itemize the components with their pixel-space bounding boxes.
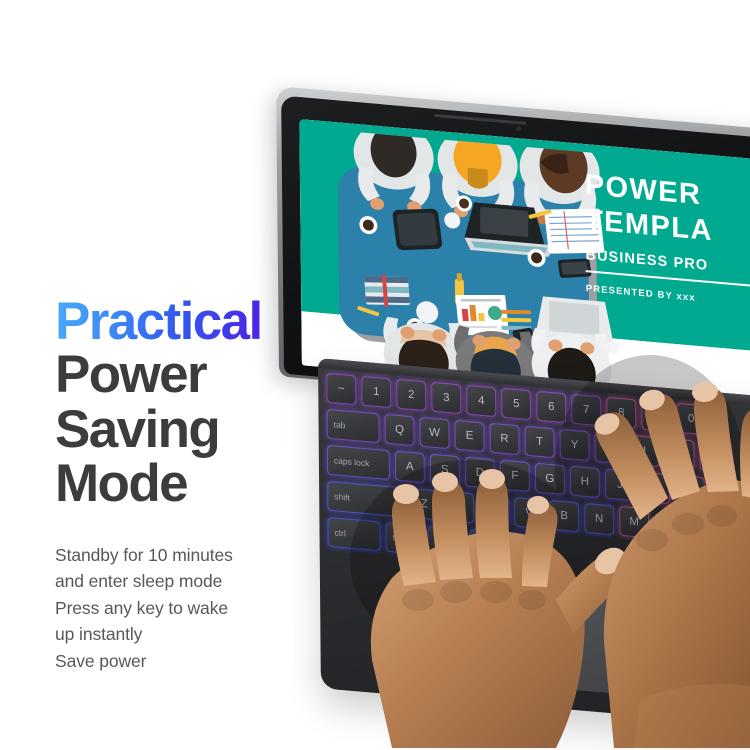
key-h[interactable]: H — [570, 466, 600, 499]
key-x[interactable]: X — [444, 491, 474, 524]
laptop-base: ~ 1 2 3 4 5 6 7 8 9 0 tab Q W E — [318, 358, 750, 732]
key-m[interactable]: M — [619, 506, 649, 539]
key-9[interactable]: 9 — [641, 400, 671, 433]
key-shift[interactable]: shift — [327, 481, 404, 518]
key-tilde[interactable]: ~ — [326, 373, 356, 406]
key-g[interactable]: G — [535, 463, 565, 496]
speaker-grille-icon — [434, 114, 526, 125]
key-0[interactable]: 0 — [676, 403, 706, 436]
key-1[interactable]: 1 — [361, 376, 391, 409]
key-i[interactable]: I — [629, 435, 659, 468]
key-l[interactable]: L — [675, 475, 705, 508]
key-y[interactable]: Y — [559, 429, 589, 462]
key-w[interactable]: W — [419, 417, 449, 450]
key-z[interactable]: Z — [409, 488, 439, 521]
key-o[interactable]: O — [664, 438, 694, 471]
key-n[interactable]: N — [584, 503, 614, 536]
key-e[interactable]: E — [454, 420, 484, 453]
key-s[interactable]: S — [430, 454, 460, 487]
key-alt[interactable]: alt — [427, 525, 464, 558]
key-8[interactable]: 8 — [606, 397, 636, 430]
key-fn[interactable]: fn — [385, 522, 422, 555]
key-p[interactable]: P — [699, 441, 729, 474]
key-t[interactable]: T — [524, 426, 554, 459]
key-ctrl[interactable]: ctrl — [327, 517, 380, 552]
key-caps-lock[interactable]: caps lock — [327, 445, 390, 480]
key-q[interactable]: Q — [384, 414, 414, 447]
poster-canvas: Practical Power Saving Mode Standby for … — [0, 0, 750, 750]
key-u[interactable]: U — [594, 432, 624, 465]
key-5[interactable]: 5 — [501, 388, 531, 421]
key-space[interactable] — [469, 529, 539, 565]
key-c[interactable]: C — [479, 494, 509, 527]
key-3[interactable]: 3 — [431, 382, 461, 415]
key-6[interactable]: 6 — [536, 391, 566, 424]
webcam-icon — [516, 126, 521, 131]
key-7[interactable]: 7 — [571, 394, 601, 427]
slide-text-block: POWER TEMPLA BUSINESS PRO PRESENTED BY x… — [585, 168, 750, 316]
trackpad[interactable] — [448, 581, 699, 701]
key-d[interactable]: D — [465, 457, 495, 490]
keyboard[interactable]: ~ 1 2 3 4 5 6 7 8 9 0 tab Q W E — [326, 373, 750, 596]
laptop-device: POWER TEMPLA BUSINESS PRO PRESENTED BY x… — [276, 86, 750, 706]
key-4[interactable]: 4 — [466, 385, 496, 418]
key-tab[interactable]: tab — [326, 409, 379, 444]
key-b[interactable]: B — [549, 500, 579, 533]
key-v[interactable]: V — [514, 497, 544, 530]
key-j[interactable]: J — [605, 469, 635, 502]
key-f[interactable]: F — [500, 460, 530, 493]
key-k[interactable]: K — [640, 472, 670, 505]
key-2[interactable]: 2 — [396, 379, 426, 412]
key-r[interactable]: R — [489, 423, 519, 456]
key-a[interactable]: A — [395, 451, 425, 484]
